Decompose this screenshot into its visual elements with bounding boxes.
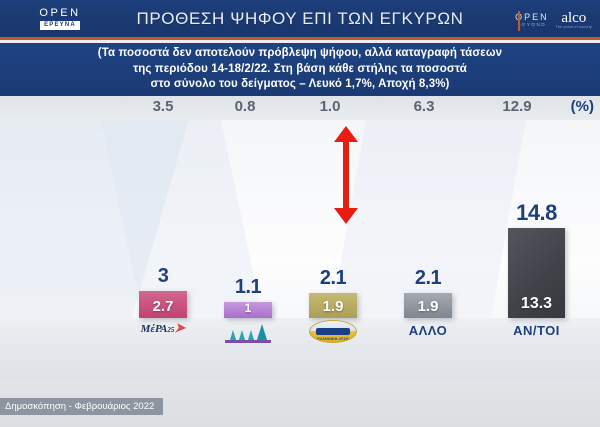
bar-mera25: 2.7 [139,291,187,318]
prev-value-1: 0.8 [215,98,275,115]
header-bar: OPEN EPEYNA ΠΡΟΘΕΣΗ ΨΗΦΟΥ ΕΠΙ ΤΩΝ ΕΓΚΥΡΩ… [0,0,600,40]
prev-value-4: 12.9 [487,98,547,115]
bar-group-mera25: 3 2.7 ΜέΡΑ25➤ [139,291,187,318]
orange-divider [518,11,520,31]
category-label-allo: ΑΛΛΟ [404,323,452,338]
alco-logo: alco The pulse of society [556,11,592,30]
alco-word: alco [561,11,586,25]
percent-unit-label: (%) [571,98,594,115]
bar-allo: 1.9 [404,293,452,318]
poll-graphic: OPEN EPEYNA ΠΡΟΘΕΣΗ ΨΗΦΟΥ ΕΠΙ ΤΩΝ ΕΓΚΥΡΩ… [0,0,600,427]
subtitle-line-2: της περιόδου 14-18/2/22. Στη βάση κάθε σ… [0,62,600,78]
subtitle-note: (Τα ποσοστά δεν αποτελούν πρόβλεψη ψήφου… [0,43,600,96]
bar-elliniki-lysi: 1.9 [309,293,357,318]
bar-above-value-1: 1.1 [224,276,272,299]
bar-inside-value-1: 1 [245,301,252,318]
chart-plot-area: 3 2.7 ΜέΡΑ25➤ 1.1 1 2.1 [0,120,600,380]
previous-values-row: 3.5 0.8 1.0 6.3 12.9 (%) [0,96,600,121]
footer-bar: Δημοσκόπηση - Φεβρουάριος 2022 [0,380,600,427]
plefsi-eleftherias-logo [224,321,272,343]
bar-above-value-3: 2.1 [404,267,452,290]
footer-caption: Δημοσκόπηση - Φεβρουάριος 2022 [0,398,163,415]
right-logos: OPEN BEYOND alco The pulse of society [515,9,592,31]
elliniki-lysi-logo: ΕΛΛΗΝΙΚΗ ΛΥΣΗ [309,320,357,342]
bar-above-value-4: 14.8 [508,200,565,226]
bar-inside-value-4: 13.3 [521,295,552,318]
open-beyond-logo: OPEN BEYOND [515,13,549,28]
page-title: ΠΡΟΘΕΣΗ ΨΗΦΟΥ ΕΠΙ ΤΩΝ ΕΓΚΥΡΩΝ [0,9,600,29]
bar-inside-value-0: 2.7 [153,298,174,318]
elliniki-lysi-logo-text: ΕΛΛΗΝΙΚΗ ΛΥΣΗ [310,337,356,341]
bar-group-plefsi: 1.1 1 [224,302,272,318]
subtitle-line-1: (Τα ποσοστά δεν αποτελούν πρόβλεψη ψήφου… [0,46,600,62]
bar-above-value-2: 2.1 [309,267,357,290]
mera25-arrow-icon: ➤ [174,320,185,335]
prev-value-3: 6.3 [394,98,454,115]
oval-blue-band [316,328,350,335]
prev-value-0: 3.5 [133,98,193,115]
bar-group-elliniki-lysi: 2.1 1.9 ΕΛΛΗΝΙΚΗ ΛΥΣΗ [309,293,357,318]
bar-above-value-0: 3 [139,265,187,288]
alco-tagline: The pulse of society [556,25,592,30]
bar-group-allo: 2.1 1.9 ΑΛΛΟ [404,293,452,318]
bar-inside-value-2: 1.9 [323,298,344,318]
bar-group-antoi: 14.8 13.3 ΑΝ/ΤΟΙ [508,228,565,318]
open-beyond-sub: BEYOND [518,22,547,28]
bar-plefsi: 1 [224,302,272,318]
elliniki-lysi-oval-icon: ΕΛΛΗΝΙΚΗ ΛΥΣΗ [309,320,357,343]
bar-antoi: 13.3 [508,228,565,318]
mera25-logo-text: ΜέΡΑ [141,323,168,335]
red-double-arrow-annotation [333,126,359,224]
prev-value-2: 1.0 [300,98,360,115]
plefsi-base-bar [225,340,271,343]
open-beyond-word: OPEN [515,13,549,22]
category-label-antoi: ΑΝ/ΤΟΙ [508,323,565,338]
subtitle-line-3: στο σύνολο του δείγματος – Λευκό 1,7%, Α… [0,77,600,93]
bar-inside-value-3: 1.9 [418,298,439,318]
mera25-logo: ΜέΡΑ25➤ [139,320,187,336]
